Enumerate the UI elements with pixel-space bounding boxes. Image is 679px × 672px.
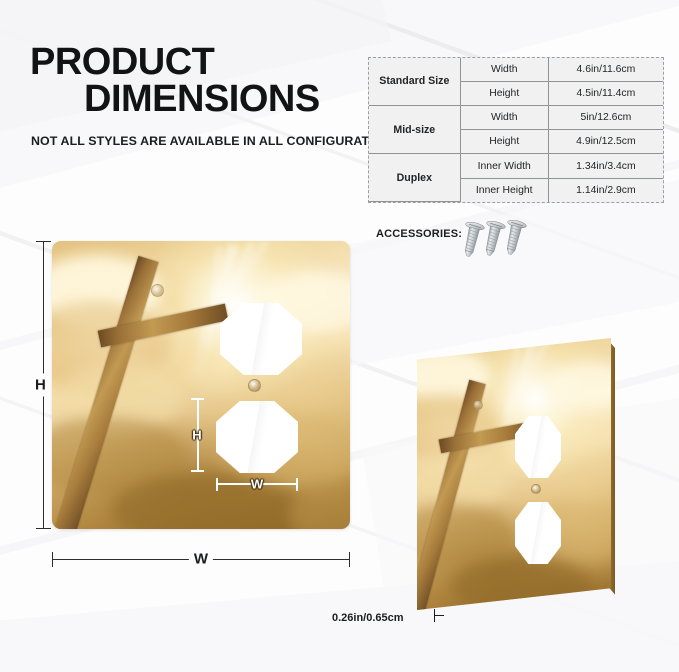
dimension-cap	[191, 470, 204, 472]
dimensions-table: Standard Size Width 4.6in/11.6cm Height …	[368, 57, 664, 203]
dimension-cap	[349, 552, 350, 567]
inner-width-label: W	[251, 478, 263, 491]
dimension-cap	[216, 478, 218, 491]
row-attribute: Height	[460, 81, 548, 105]
title-line-2: DIMENSIONS	[30, 81, 320, 118]
row-value: 4.5in/11.4cm	[548, 81, 663, 105]
outlet-cutout-top	[515, 416, 561, 478]
artwork-cloud	[451, 556, 591, 610]
row-value: 1.34in/3.4cm	[548, 154, 663, 178]
outlet-cutout-bottom	[216, 401, 298, 473]
dimension-cap	[191, 398, 204, 400]
thickness-label: 0.26in/0.65cm	[332, 612, 404, 624]
row-group-label: Duplex	[369, 154, 460, 202]
center-screw-hole	[531, 484, 541, 494]
row-attribute: Width	[460, 105, 548, 129]
accessories-label: ACCESSORIES:	[376, 228, 462, 240]
inner-height-label: H	[192, 429, 201, 442]
dimension-cap	[296, 478, 298, 491]
product-angled-view	[405, 338, 635, 623]
inner-height-dimension: H	[191, 398, 203, 472]
product-front-view	[52, 241, 350, 529]
outer-width-dimension: W	[52, 552, 350, 566]
row-group-label: Standard Size	[369, 58, 460, 105]
outlet-cutout-bottom	[515, 502, 561, 564]
table-row: Standard Size Width 4.6in/11.6cm	[369, 58, 663, 81]
center-screw-hole	[248, 379, 261, 392]
outlet-cutout-top	[220, 303, 302, 375]
screw-icon	[462, 216, 532, 266]
outer-height-label: H	[34, 374, 47, 397]
outer-height-dimension: H	[36, 241, 50, 529]
row-value: 4.9in/12.5cm	[548, 130, 663, 154]
product-angled-face	[411, 338, 611, 610]
dimension-cap	[52, 552, 53, 567]
top-screw-hole	[473, 400, 483, 410]
title-line-1: PRODUCT	[30, 44, 320, 81]
table-row: Duplex Inner Width 1.34in/3.4cm	[369, 154, 663, 178]
bracket-horizontal	[434, 615, 444, 616]
row-attribute: Width	[460, 58, 548, 81]
inner-width-dimension: W	[216, 478, 298, 490]
row-value: 4.6in/11.6cm	[548, 58, 663, 81]
dimension-cap	[36, 241, 51, 242]
row-value: 5in/12.6cm	[548, 105, 663, 129]
row-group-label: Mid-size	[369, 105, 460, 154]
table-row: Mid-size Width 5in/12.6cm	[369, 105, 663, 129]
row-value: 1.14in/2.9cm	[548, 178, 663, 201]
top-screw-hole	[151, 284, 164, 297]
dimension-cap	[36, 528, 51, 529]
outer-width-label: W	[189, 551, 213, 568]
infographic-canvas: PRODUCT DIMENSIONS NOT ALL STYLES ARE AV…	[0, 0, 679, 672]
row-attribute: Inner Height	[460, 178, 548, 201]
page-title: PRODUCT DIMENSIONS	[30, 44, 320, 118]
thickness-bracket-icon	[434, 609, 444, 622]
page-subtitle: NOT ALL STYLES ARE AVAILABLE IN ALL CONF…	[31, 134, 400, 148]
row-attribute: Height	[460, 130, 548, 154]
row-attribute: Inner Width	[460, 154, 548, 178]
